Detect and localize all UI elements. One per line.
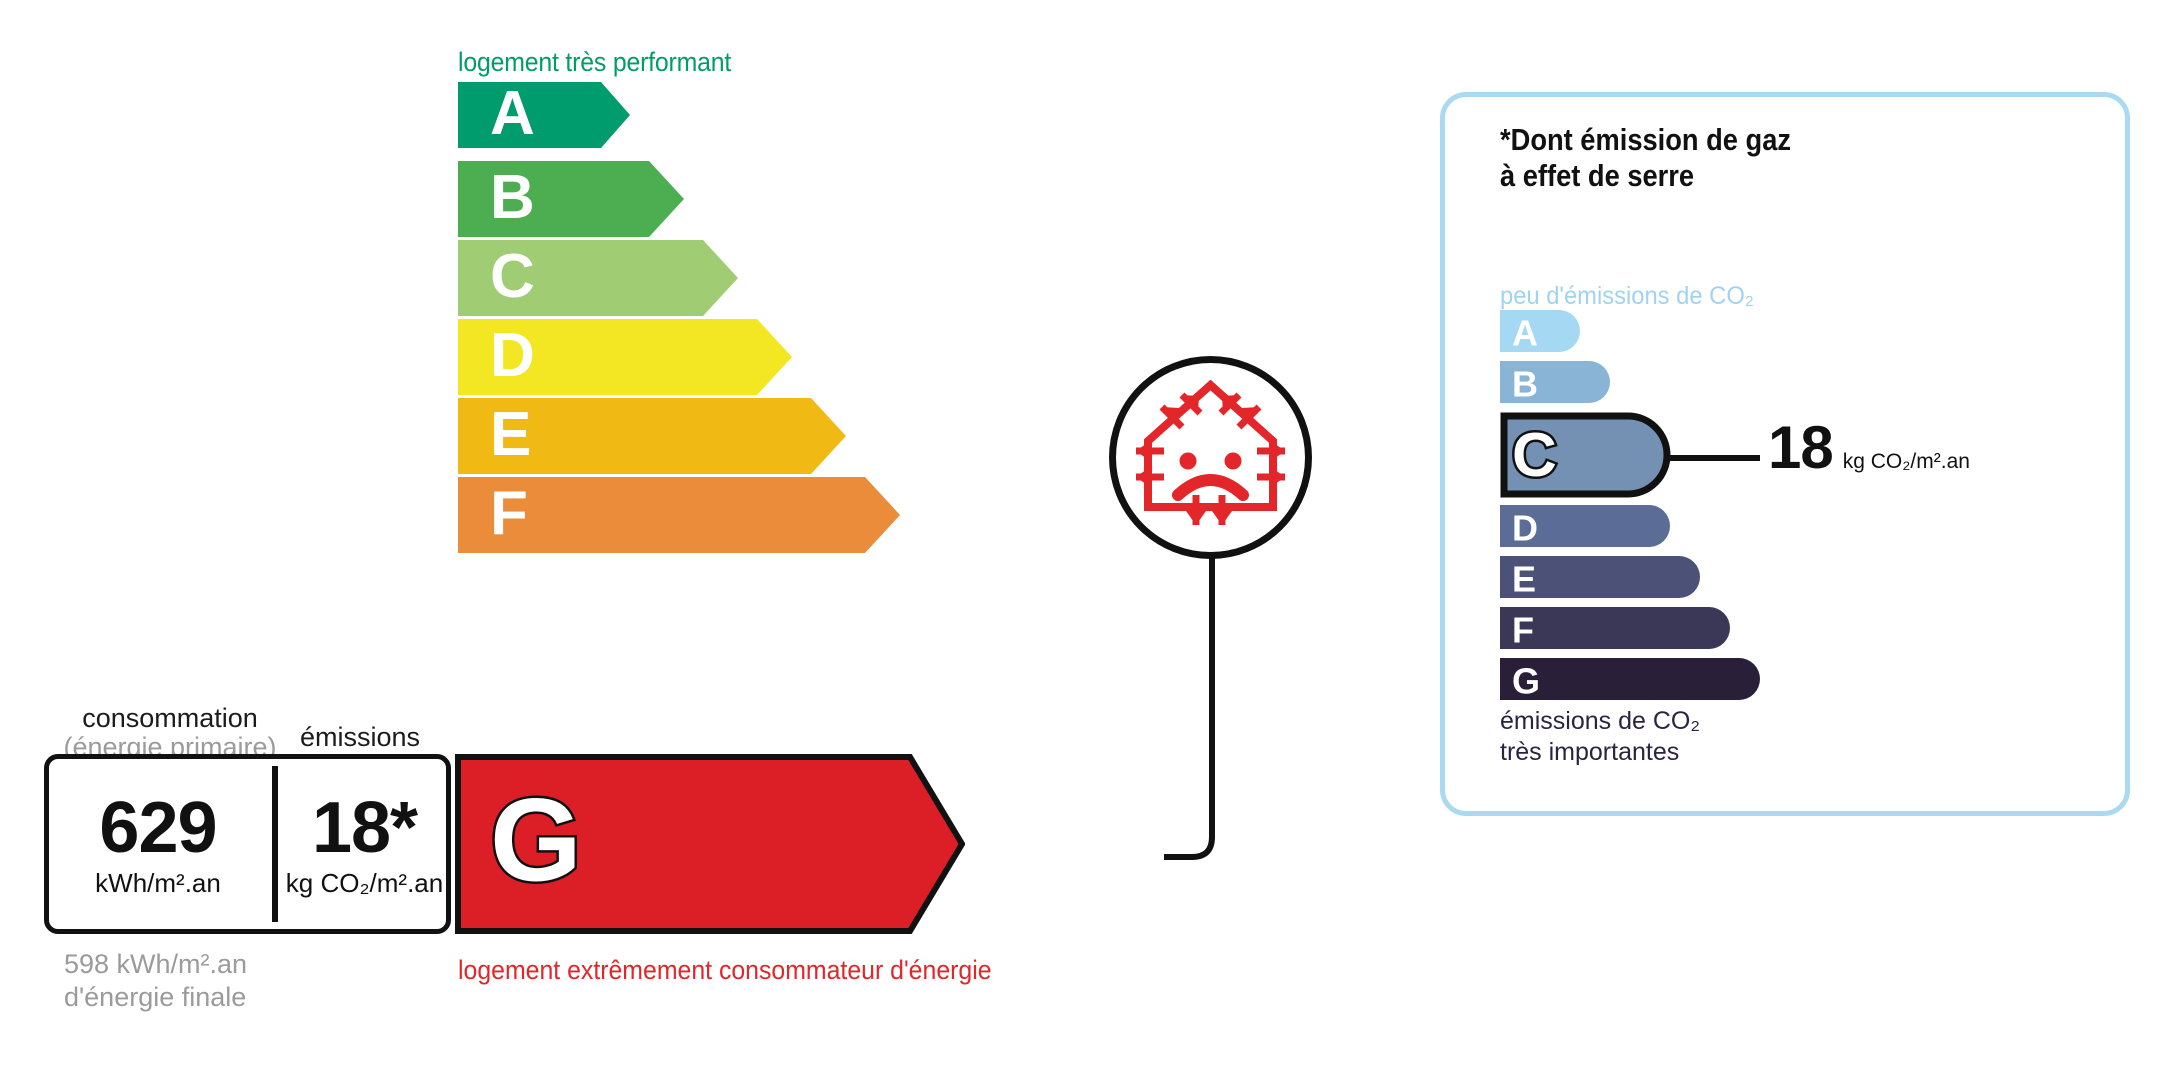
energy-bar-e-letter: E (490, 404, 531, 466)
emissions-value: 18* (312, 792, 417, 864)
co2-value-annotation: 18 kg CO₂/m².an (1768, 418, 1970, 478)
energy-bar-b-letter: B (490, 167, 535, 229)
co2-bar-c-letter: C (1512, 425, 1557, 487)
energy-bar-e[interactable]: E (458, 398, 846, 474)
co2-panel-title: *Dont émission de gaz à effet de serre (1500, 122, 1791, 194)
co2-bottom-caption-line2: très importantes (1500, 737, 1700, 768)
co2-bar-b-letter: B (1512, 366, 1538, 402)
energy-bar-d-letter: D (490, 325, 535, 387)
co2-bar-d-letter: D (1512, 510, 1538, 546)
co2-bottom-caption-line1: émissions de CO₂ (1500, 706, 1700, 737)
co2-bar-e-letter: E (1512, 561, 1536, 597)
final-energy-note: 598 kWh/m².an d'énergie finale (64, 948, 247, 1014)
energy-bar-f[interactable]: F (458, 477, 900, 553)
final-energy-line1: 598 kWh/m².an (64, 948, 247, 981)
consumption-unit: kWh/m².an (95, 870, 221, 896)
energy-bar-a-letter: A (490, 83, 535, 145)
co2-bar-g[interactable]: G (1500, 658, 1760, 705)
energy-bar-d[interactable]: D (458, 319, 792, 395)
emissions-unit: kg CO₂/m².an (286, 870, 443, 896)
energy-bar-c[interactable]: C (458, 240, 738, 316)
energy-bar-c-letter: C (490, 246, 535, 308)
co2-bottom-caption: émissions de CO₂ très importantes (1500, 706, 1700, 767)
co2-bar-f-shape (1500, 607, 1730, 649)
emissions-value-cell: 18* kg CO₂/m².an (278, 754, 451, 934)
consumption-value: 629 (99, 792, 216, 864)
co2-bar-g-letter: G (1512, 663, 1540, 699)
co2-leader-line (1668, 455, 1760, 461)
energy-bar-a[interactable]: A (458, 82, 630, 148)
badge-connector-line (1160, 555, 1230, 865)
co2-bar-a-letter: A (1512, 315, 1538, 351)
energy-bar-f-letter: F (490, 483, 528, 545)
co2-title-line1: *Dont émission de gaz (1500, 122, 1791, 158)
energy-bar-g-letter: G (490, 781, 582, 899)
co2-title-line2: à effet de serre (1500, 158, 1791, 194)
consumption-value-cell: 629 kWh/m².an (44, 754, 272, 934)
co2-bar-e[interactable]: E (1500, 556, 1700, 603)
co2-bar-c-selected[interactable]: C (1500, 412, 1675, 503)
co2-value-unit: kg CO₂/m².an (1843, 450, 1970, 474)
co2-bar-a[interactable]: A (1500, 310, 1580, 357)
sad-house-heat-loss-icon (1108, 355, 1313, 560)
co2-bar-f[interactable]: F (1500, 607, 1730, 654)
energy-performance-scale: logement très performant A B C D E (0, 0, 1380, 1079)
energy-bottom-caption: logement extrêmement consommateur d'éner… (458, 955, 992, 986)
co2-bar-b[interactable]: B (1500, 361, 1610, 408)
co2-bar-f-letter: F (1512, 612, 1534, 648)
co2-value-number: 18 (1768, 418, 1833, 478)
co2-top-caption: peu d'émissions de CO₂ (1500, 282, 1754, 311)
energy-bar-a-shape (458, 82, 630, 148)
co2-bar-d[interactable]: D (1500, 505, 1670, 552)
energy-bar-g-selected[interactable]: G (455, 754, 965, 934)
final-energy-line2: d'énergie finale (64, 981, 247, 1014)
consumption-label-line1: consommation (60, 704, 280, 733)
emissions-label: émissions (290, 723, 430, 752)
energy-top-caption: logement très performant (458, 47, 731, 78)
energy-bar-b[interactable]: B (458, 161, 684, 237)
